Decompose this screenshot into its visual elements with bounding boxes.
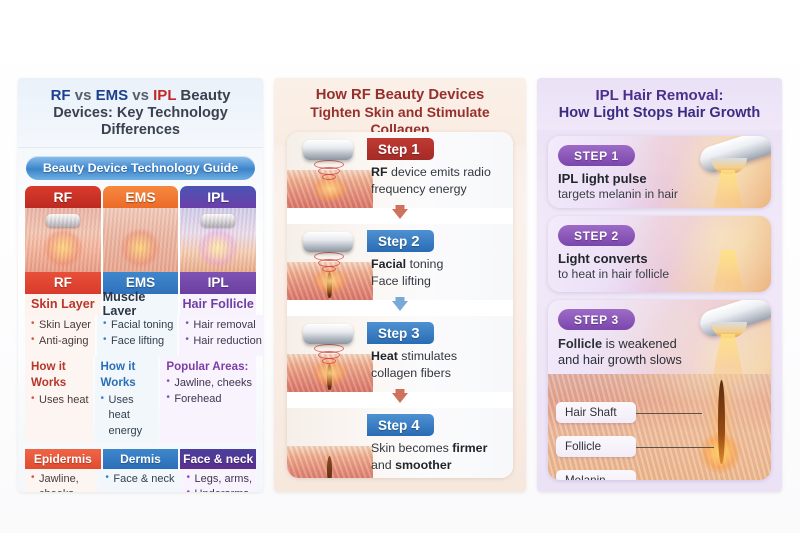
step-label: Step xyxy=(378,326,407,341)
col-header-rf-bottom: Epidermis xyxy=(25,449,101,469)
step3-bold: Heat xyxy=(371,349,398,363)
panel-comparison-table: RF vs EMS vs IPL Beauty Devices: Key Tec… xyxy=(18,78,263,492)
col-header-ipl-mid: IPL xyxy=(180,272,256,294)
radio-wave-icon xyxy=(309,160,349,186)
ipl-step-1-text: IPL light pulse targets melanin in hair xyxy=(558,171,678,203)
hair-follicle xyxy=(327,456,332,478)
title-vs-1: vs xyxy=(75,87,92,104)
bullet-item: Forehead xyxy=(166,392,252,408)
rf-device-head-icon xyxy=(303,324,353,344)
step1-line2: frequency energy xyxy=(371,181,505,198)
anatomy-label-melanin: Melanin xyxy=(556,470,636,480)
illustration-ipl xyxy=(180,208,256,272)
rf-step-3: Step 3 Heat stimulates collagen fibers xyxy=(287,316,513,392)
cell-ems-benefits: Facial toning Face lifting xyxy=(97,315,177,356)
panel3-title: IPL Hair Removal: How Light Stops Hair G… xyxy=(537,78,782,130)
bullet-item: Face lifting xyxy=(103,334,173,350)
ipl-step-badge-2: STEP 2 xyxy=(558,225,635,246)
step-badge-3: Step 3 xyxy=(367,322,434,344)
cell-ems-areas: Face & neck xyxy=(99,469,178,492)
ipl-step3-line2: and hair growth slows xyxy=(558,352,682,368)
step1-bold: RF xyxy=(371,165,388,179)
table-areas-row: Jawline, cheeks Face & neck Legs, arms, … xyxy=(18,469,263,492)
panel-ipl-process: IPL Hair Removal: How Light Stops Hair G… xyxy=(537,78,782,492)
cell-ipl-areas: Legs, arms, Underarms xyxy=(181,469,256,492)
col-header-rf-top: RF xyxy=(25,186,101,208)
ipl-step2-line1: Light converts xyxy=(558,251,669,267)
radio-wave-icon xyxy=(309,252,349,278)
step2-rest: toning xyxy=(406,257,443,271)
col-header-ipl-top: IPL xyxy=(180,186,256,208)
bullet-item: Jawline, xyxy=(31,472,93,488)
panel3-title-line1: IPL Hair Removal: xyxy=(543,87,776,105)
illustration-ems xyxy=(103,208,179,272)
ipl-step3-rest: is weakened xyxy=(602,336,677,351)
ipl-step2-line2: to heat in hair follicle xyxy=(558,267,669,283)
step4-bold2: smoother xyxy=(395,458,451,472)
rf-step-1-text: RF device emits radio frequency energy xyxy=(371,164,505,197)
title-vs-2: vs xyxy=(132,87,149,104)
ipl-step1-line1: IPL light pulse xyxy=(558,171,678,187)
panel1-title: RF vs EMS vs IPL Beauty Devices: Key Tec… xyxy=(18,78,263,148)
infographic-canvas: RF vs EMS vs IPL Beauty Devices: Key Tec… xyxy=(0,0,800,533)
rf-device-head-icon xyxy=(303,232,353,252)
leader-line xyxy=(636,413,702,414)
cell-rf-benefits: Skin Layer Anti-aging xyxy=(25,315,95,356)
col-subtitle-ems: Muscle Layer xyxy=(103,294,179,315)
table-bottom-header-row: Epidermis Dermis Face & neck xyxy=(18,449,263,469)
flow-arrow-1 xyxy=(287,208,513,224)
cell-rf-areas: Jawline, cheeks xyxy=(25,469,97,492)
step-badge-1: Step 1 xyxy=(367,138,434,160)
ipl-step-badge-1: STEP 1 xyxy=(558,145,635,166)
rf-step-4-text: Skin becomes firmer and smoother xyxy=(371,440,505,473)
flow-arrow-2 xyxy=(287,300,513,316)
rf-step-2: Step 2 Facial toning Face lifting xyxy=(287,224,513,300)
bullet-item: Face & neck xyxy=(105,472,174,488)
label-text: Hair Shaft xyxy=(565,406,617,419)
col-subtitle-rf: Skin Layer xyxy=(25,294,101,315)
rf-step-3-text: Heat stimulates collagen fibers xyxy=(371,348,505,381)
ipl-device-icon xyxy=(201,214,235,227)
rf-energy-glow xyxy=(43,228,83,268)
col-header-rf-mid: RF xyxy=(25,272,101,294)
bullet-item: Hair reduction xyxy=(185,334,261,350)
step-badge-2: Step 2 xyxy=(367,230,434,252)
step3-rest: stimulates xyxy=(398,349,457,363)
ipl-step3-bold: Follicle xyxy=(558,336,602,351)
step-label: Step xyxy=(378,234,407,249)
step-number: 4 xyxy=(411,417,419,434)
radio-wave-icon xyxy=(309,344,349,370)
step4-bold: firmer xyxy=(452,441,487,455)
label-text: Follicle xyxy=(565,440,601,453)
rf-step-2-illustration xyxy=(287,224,373,300)
step-number: 1 xyxy=(411,141,419,158)
section-heading: How it Works xyxy=(31,359,89,392)
ipl-step-2: STEP 2 Light converts to heat in hair fo… xyxy=(548,216,771,292)
bullet-continuation: cheeks xyxy=(31,487,93,492)
col-header-ems-top: EMS xyxy=(103,186,179,208)
rf-step-3-illustration xyxy=(287,316,373,392)
bullet-item: Skin Layer xyxy=(31,318,91,334)
step3-line2: collagen fibers xyxy=(371,365,505,382)
arrow-head-icon xyxy=(392,301,408,311)
hair-follicle xyxy=(718,380,725,464)
col-subtitle-ipl: Hair Follicle xyxy=(180,294,256,315)
table-illustration-row xyxy=(18,208,263,272)
table-howitworks-row: How it Works Uses heat How it Works Uses… xyxy=(18,356,263,443)
section-heading: Popular Areas: xyxy=(166,359,252,375)
section-heading: How it Works xyxy=(101,359,155,392)
step-badge-4: Step 4 xyxy=(367,414,434,436)
rf-step-4-illustration xyxy=(287,408,373,478)
anatomy-label-hair-shaft: Hair Shaft xyxy=(556,402,636,423)
table-subtitle-row: Skin Layer Muscle Layer Hair Follicle xyxy=(18,294,263,315)
bullet-item: Uses heat xyxy=(31,393,89,409)
bullet-item: Facial toning xyxy=(103,318,173,334)
ems-muscle-glow xyxy=(120,228,160,268)
step4-plain2: and xyxy=(371,458,395,472)
bullet-item: Hair removal xyxy=(185,318,261,334)
arrow-head-icon xyxy=(392,209,408,219)
anatomy-label-follicle: Follicle xyxy=(556,436,636,457)
bullet-item: Legs, arms, xyxy=(187,472,252,488)
step2-bold: Facial xyxy=(371,257,406,271)
leader-line xyxy=(636,447,714,448)
cell-rf-howitworks: How it Works Uses heat xyxy=(25,356,93,443)
title-rf: RF xyxy=(51,87,71,104)
bullet-item: Underarms xyxy=(187,487,252,492)
ipl-light-glow xyxy=(198,228,238,268)
technology-guide-banner: Beauty Device Technology Guide xyxy=(26,156,255,180)
rf-device-icon xyxy=(46,214,80,227)
panel1-subtitle: Devices: Key Technology Differences xyxy=(24,105,257,139)
illustration-rf xyxy=(25,208,101,272)
rf-steps-card: Step 1 RF device emits radio frequency e… xyxy=(287,132,513,478)
rf-step-1-illustration xyxy=(287,132,373,208)
step-label: Step xyxy=(378,418,407,433)
ipl-step-badge-3: STEP 3 xyxy=(558,309,635,330)
ipl-step-2-text: Light converts to heat in hair follicle xyxy=(558,251,669,283)
ipl-step-3-text: Follicle is weakened and hair growth slo… xyxy=(558,336,682,368)
bullet-item: Uses heat energy xyxy=(101,393,155,440)
rf-device-head-icon xyxy=(303,140,353,160)
table-top-header-row: RF EMS IPL xyxy=(18,186,263,208)
panel3-title-line2: How Light Stops Hair Growth xyxy=(543,105,776,122)
rf-step-1: Step 1 RF device emits radio frequency e… xyxy=(287,132,513,208)
col-header-ipl-bottom: Face & neck xyxy=(180,449,256,469)
col-header-ems-bottom: Dermis xyxy=(103,449,179,469)
step1-rest: device emits radio xyxy=(388,165,491,179)
rf-step-2-text: Facial toning Face lifting xyxy=(371,256,505,289)
cell-ipl-benefits: Hair removal Hair reduction xyxy=(179,315,263,356)
title-ems: EMS xyxy=(96,87,129,104)
cell-ipl-popularareas: Popular Areas: Jawline, cheeks Forehead xyxy=(160,356,256,443)
panel-rf-process: How RF Beauty Devices Tighten Skin and S… xyxy=(274,78,526,492)
table-benefits-row: Skin Layer Anti-aging Facial toning Face… xyxy=(18,315,263,356)
step-label: Step xyxy=(378,142,407,157)
title-beauty: Beauty xyxy=(180,87,230,104)
arrow-head-icon xyxy=(392,393,408,403)
rf-step-4: Step 4 Skin becomes firmer and smoother xyxy=(287,408,513,478)
step4-plain: Skin becomes xyxy=(371,441,452,455)
ipl-step-3: STEP 3 Follicle is weakened and hair gro… xyxy=(548,300,771,480)
flow-arrow-3 xyxy=(287,392,513,408)
bullet-item: Jawline, cheeks xyxy=(166,376,252,392)
step-number: 2 xyxy=(411,233,419,250)
title-ipl: IPL xyxy=(153,87,176,104)
ipl-step-1: STEP 1 IPL light pulse targets melanin i… xyxy=(548,136,771,208)
label-text: Melanin xyxy=(565,474,606,480)
ipl-step1-line2: targets melanin in hair xyxy=(558,187,678,203)
step-number: 3 xyxy=(411,325,419,342)
panel2-title-line1: How RF Beauty Devices xyxy=(280,87,520,104)
step2-line2: Face lifting xyxy=(371,273,505,290)
bullet-item: Anti-aging xyxy=(31,334,91,350)
cell-ems-howitworks: How it Works Uses heat energy xyxy=(95,356,159,443)
